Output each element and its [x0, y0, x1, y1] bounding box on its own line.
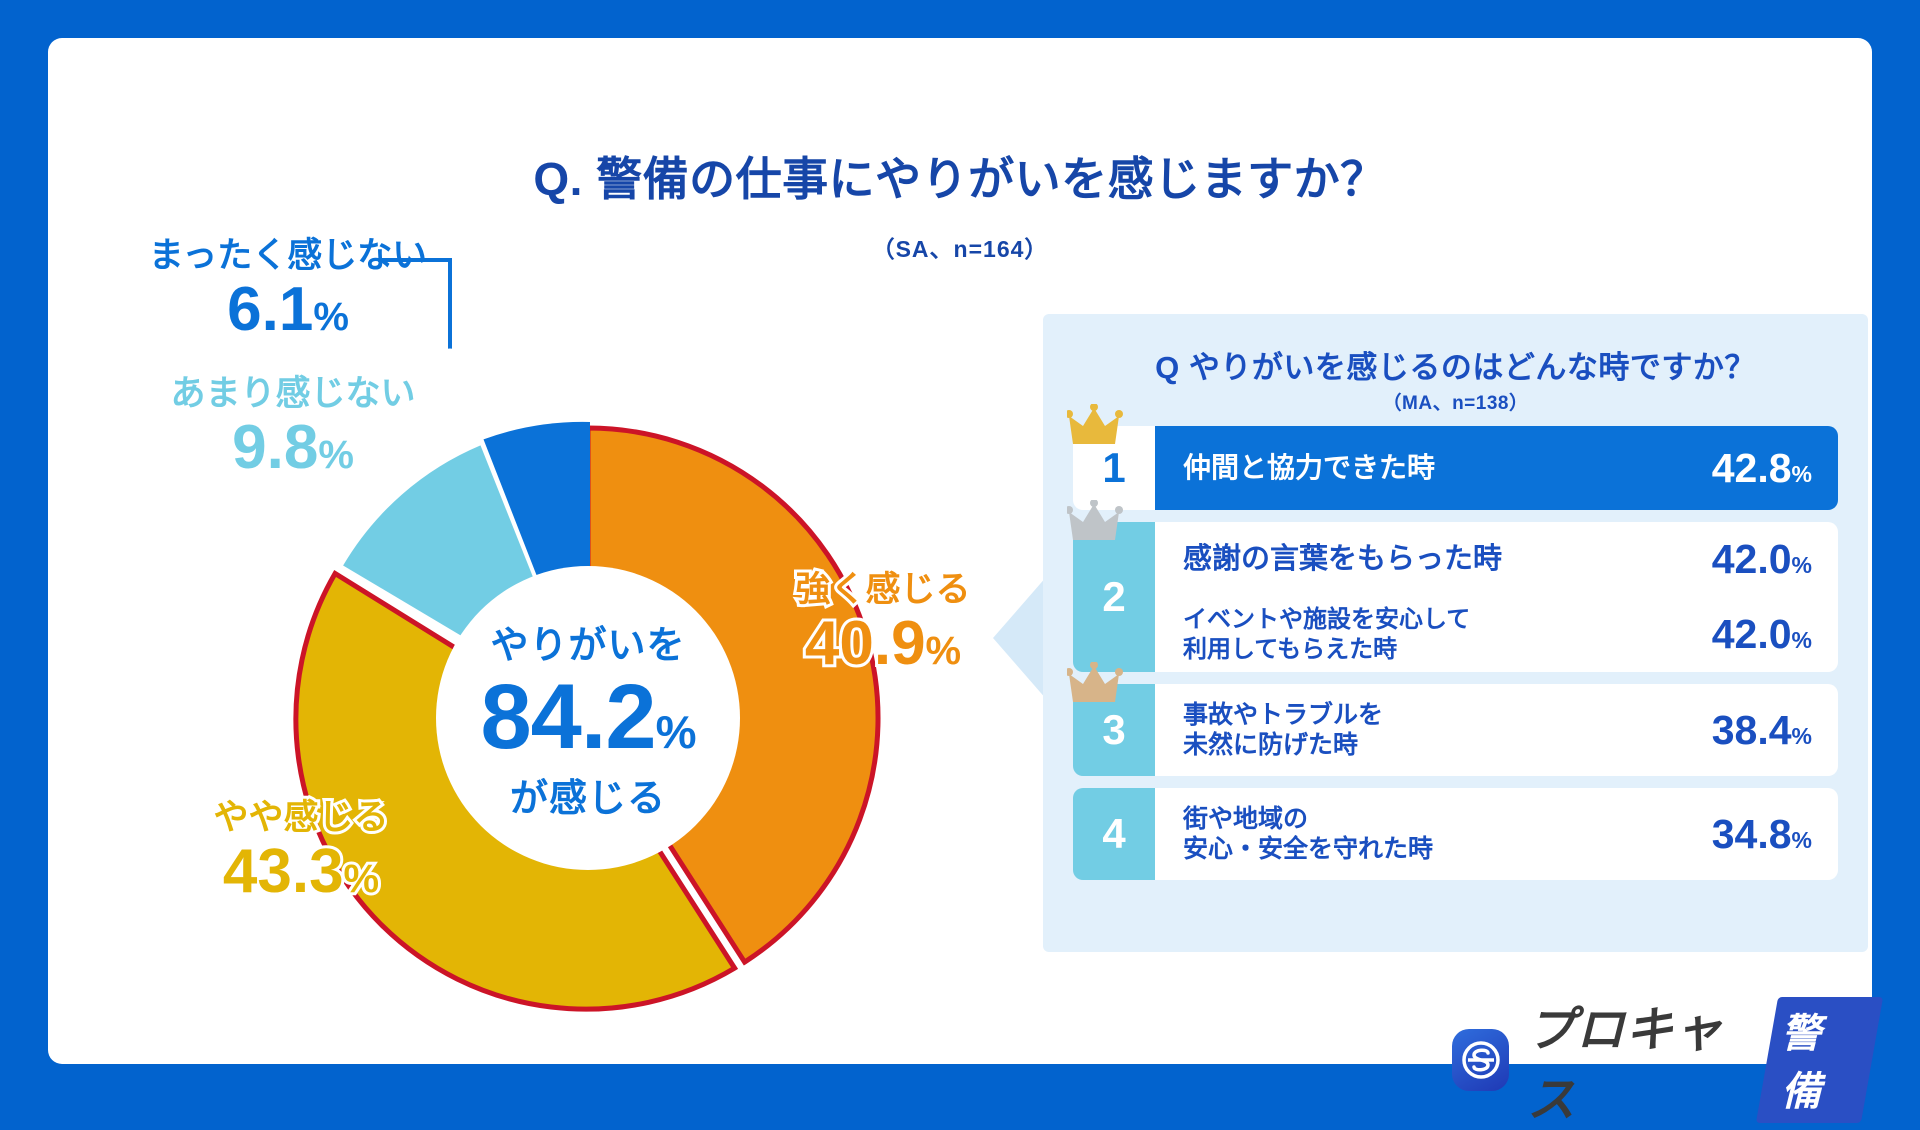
ranking-row-4[interactable]: 4 街や地域の 安心・安全を守れた時 34.8%: [1073, 788, 1838, 880]
rank-value-2-2: 42.0%: [1662, 611, 1812, 658]
ranking-panel: Q やりがいを感じるのはどんな時ですか？ （MA、n=138） 1 仲間と協力: [1043, 314, 1868, 952]
ranking-row-1[interactable]: 1 仲間と協力できた時 42.8%: [1073, 426, 1838, 510]
logo-tag: 警備: [1756, 997, 1884, 1123]
rank-number-4: 4: [1102, 810, 1125, 858]
brand-logo: プロキャス 警備: [1452, 990, 1872, 1130]
panel-subtitle: （MA、n=138）: [1043, 388, 1868, 415]
rank-entry-2-1: 感謝の言葉をもらった時 42.0%: [1155, 522, 1838, 597]
s-circle-icon: [1452, 1029, 1509, 1091]
rank-label-1-1: 仲間と協力できた時: [1183, 451, 1662, 485]
slice-label-little-name: あまり感じない: [148, 376, 438, 411]
rank-value-1-1: 42.8%: [1662, 445, 1812, 492]
rank-badge-3: 3: [1073, 684, 1155, 776]
rank-label-2-2: イベントや施設を安心して 利用してもらえた時: [1183, 605, 1662, 664]
donut-center-text: やりがいを 84.2% が感じる: [433, 573, 743, 863]
slice-label-little: あまり感じない 9.8%: [148, 376, 438, 479]
rank-label-2-1: 感謝の言葉をもらった時: [1183, 542, 1662, 577]
slice-label-none-value: 6.1%: [143, 279, 433, 341]
donut-center-value: 84.2%: [481, 671, 696, 763]
panel-pointer-arrow: [993, 576, 1047, 700]
page-frame: Q. 警備の仕事にやりがいを感じますか？ （SA、n=164） やりがいを 84…: [0, 0, 1920, 1100]
rank-body-4: 街や地域の 安心・安全を守れた時 34.8%: [1155, 788, 1838, 880]
rank-badge-1: 1: [1073, 426, 1155, 510]
rank-number-3: 3: [1102, 706, 1125, 754]
rank-entry-3-1: 事故やトラブルを 未然に防げた時 38.4%: [1155, 700, 1838, 761]
ranking-row-2[interactable]: 2 感謝の言葉をもらった時 42.0% イベントや施設を安心して 利用してもらえ…: [1073, 522, 1838, 672]
rank-badge-2: 2: [1073, 522, 1155, 672]
bronze-crown-icon: [1067, 662, 1123, 708]
rank-number-2: 2: [1102, 573, 1125, 621]
ranking-row-3[interactable]: 3 事故やトラブルを 未然に防げた時 38.4%: [1073, 684, 1838, 776]
rank-value-3-1: 38.4%: [1662, 707, 1812, 754]
rank-entry-2-2: イベントや施設を安心して 利用してもらえた時 42.0%: [1155, 597, 1838, 672]
rank-number-1: 1: [1102, 444, 1125, 492]
donut-center-bottom: が感じる: [510, 767, 666, 822]
slice-label-strong: 強く感じる 40.9%: [763, 572, 1003, 675]
gold-crown-icon: [1067, 404, 1123, 450]
rank-entry-1-1: 仲間と協力できた時 42.8%: [1155, 445, 1838, 492]
ranking-list: 1 仲間と協力できた時 42.8%: [1073, 426, 1838, 892]
rank-body-1: 仲間と協力できた時 42.8%: [1155, 426, 1838, 510]
slice-label-somewhat-name: やや感じる: [176, 800, 426, 835]
slice-label-little-value: 9.8%: [148, 417, 438, 479]
slice-label-strong-value: 40.9%: [763, 613, 1003, 675]
rank-entry-4-1: 街や地域の 安心・安全を守れた時 34.8%: [1155, 804, 1838, 865]
slice-label-strong-name: 強く感じる: [763, 572, 1003, 607]
slice-label-somewhat: やや感じる 43.3%: [176, 800, 426, 903]
rank-body-2: 感謝の言葉をもらった時 42.0% イベントや施設を安心して 利用してもらえた時…: [1155, 522, 1838, 672]
rank-value-4-1: 34.8%: [1662, 811, 1812, 858]
donut-center-top: やりがいを: [490, 614, 685, 669]
slice-label-none-name: まったく感じない: [143, 238, 433, 273]
rank-label-4-1: 街や地域の 安心・安全を守れた時: [1183, 804, 1662, 865]
rank-badge-4: 4: [1073, 788, 1155, 880]
slice-label-none: まったく感じない 6.1%: [143, 238, 433, 341]
content-card: Q. 警備の仕事にやりがいを感じますか？ （SA、n=164） やりがいを 84…: [48, 38, 1872, 1064]
panel-title: Q やりがいを感じるのはどんな時ですか？: [1043, 342, 1868, 387]
rank-value-2-1: 42.0%: [1662, 536, 1812, 583]
slice-label-somewhat-value: 43.3%: [176, 841, 426, 903]
page-title: Q. 警備の仕事にやりがいを感じますか？: [48, 143, 1872, 209]
rank-label-3-1: 事故やトラブルを 未然に防げた時: [1183, 700, 1662, 761]
silver-crown-icon: [1067, 500, 1123, 546]
rank-body-3: 事故やトラブルを 未然に防げた時 38.4%: [1155, 684, 1838, 776]
logo-name: プロキャス: [1527, 990, 1753, 1130]
